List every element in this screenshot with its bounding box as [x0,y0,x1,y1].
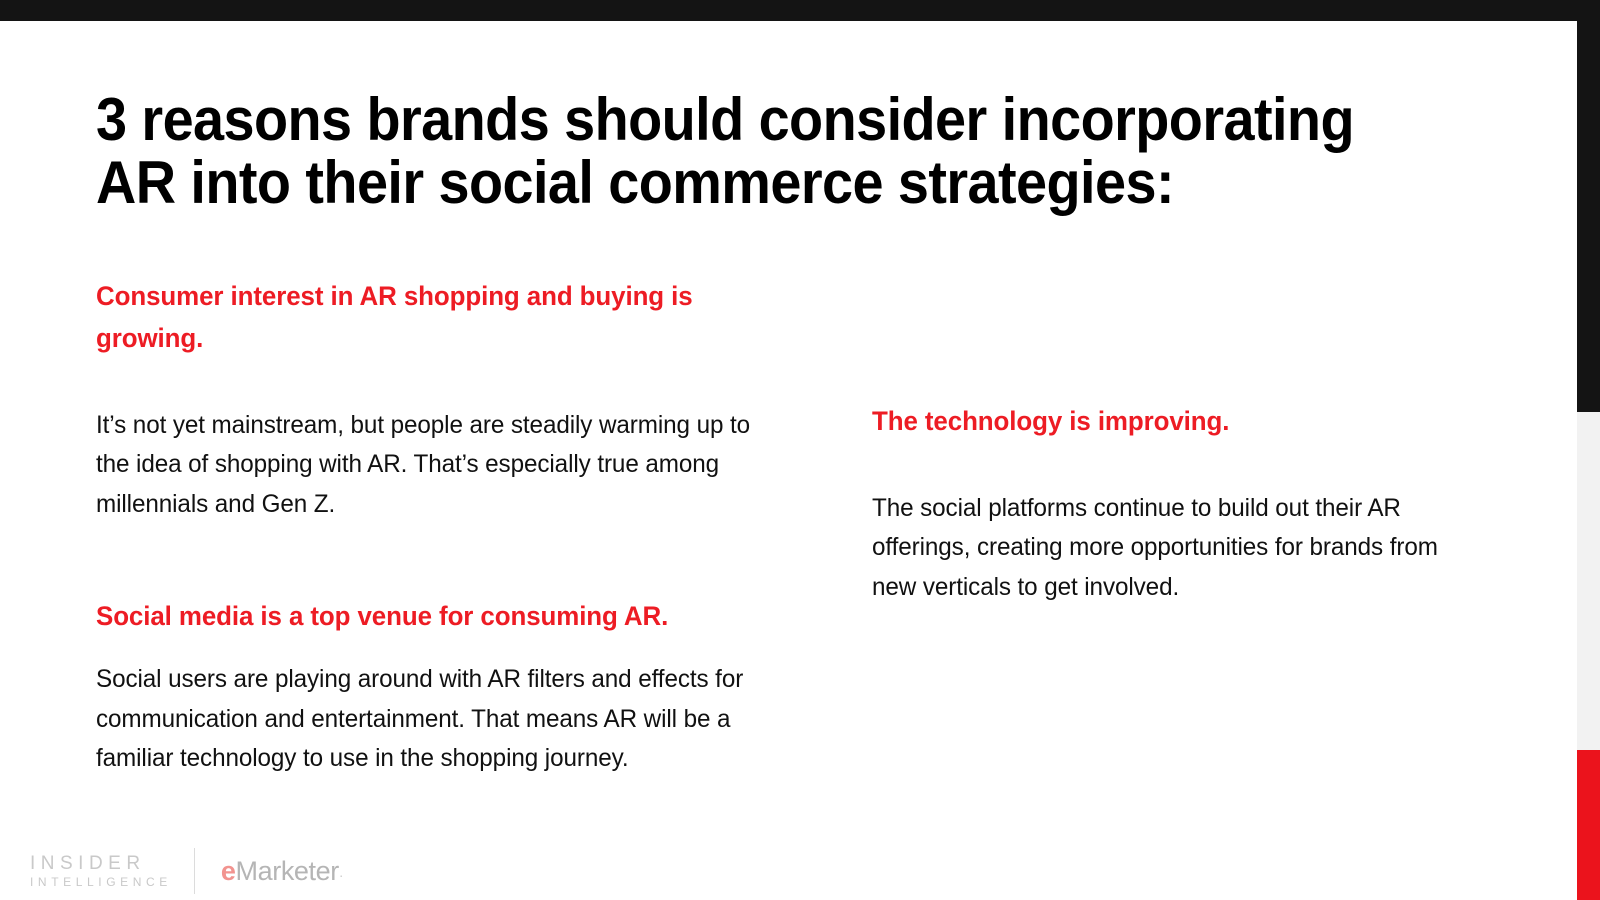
top-black-bar [0,0,1600,21]
reason-one-heading: Consumer interest in AR shopping and buy… [96,276,768,360]
logo-divider [194,848,195,894]
page-title: 3 reasons brands should consider incorpo… [96,88,1398,214]
left-column: Consumer interest in AR shopping and buy… [96,276,796,779]
emarketer-e-mark: e [221,856,236,886]
emarketer-trademark: · [339,867,343,883]
right-edge-band-dark [1577,21,1600,412]
spacer [96,638,796,660]
spacer [96,360,796,406]
insider-intelligence-logo: INSIDER INTELLIGENCE [30,852,172,891]
emarketer-logo: eMarketer· [221,858,343,885]
reason-three-heading: The technology is improving. [872,401,1458,443]
insider-intelligence-line-1: INSIDER [30,852,172,876]
reason-three-body: The social platforms continue to build o… [872,489,1464,608]
reason-two-heading: Social media is a top venue for consumin… [96,596,768,638]
right-edge-band-gray [1577,412,1600,750]
spacer [96,524,796,596]
insider-intelligence-line-2: INTELLIGENCE [30,875,172,890]
slide-content: 3 reasons brands should consider incorpo… [0,21,1577,900]
reason-one-body: It’s not yet mainstream, but people are … [96,406,775,525]
reason-two-body: Social users are playing around with AR … [96,660,775,779]
slide-canvas: 3 reasons brands should consider incorpo… [0,0,1600,900]
footer-logo-lockup: INSIDER INTELLIGENCE eMarketer· [30,843,343,899]
emarketer-wordmark: Marketer [236,856,339,886]
spacer [872,443,1482,489]
right-column: The technology is improving. The social … [872,401,1482,607]
right-edge-band-red [1577,750,1600,900]
